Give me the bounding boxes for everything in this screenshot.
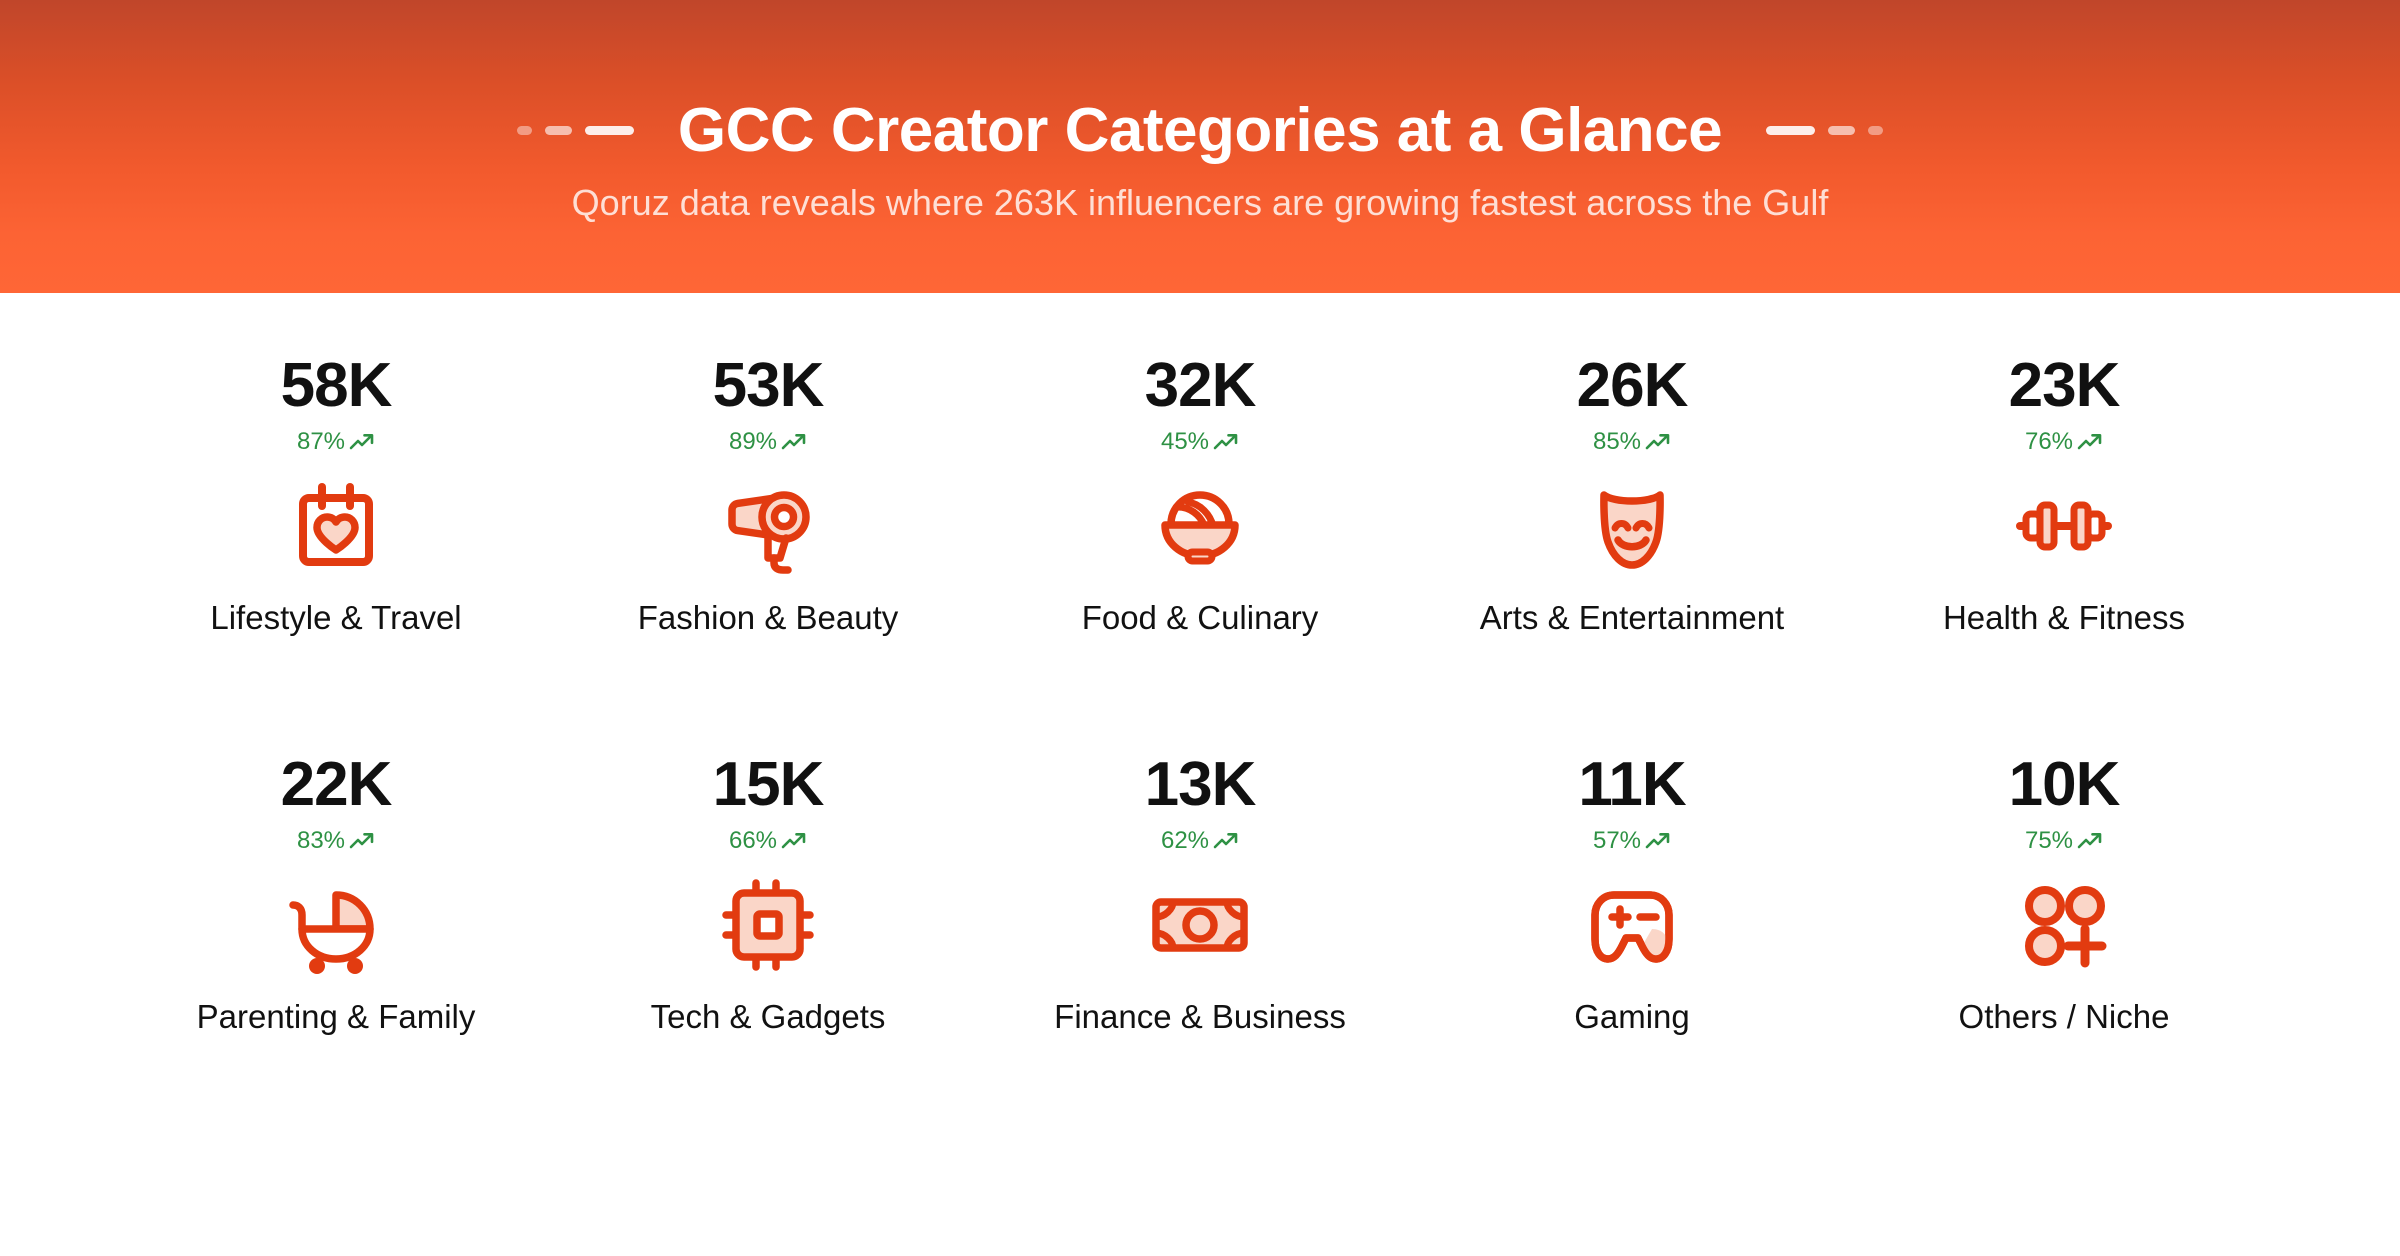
- hairdryer-icon: [716, 474, 820, 578]
- right-dash-decoration-icon: [1766, 126, 1883, 135]
- cpu-chip-icon: [716, 873, 820, 977]
- page-title: GCC Creator Categories at a Glance: [634, 95, 1766, 166]
- growth-badge: 85%: [1593, 430, 1671, 454]
- category-label: Tech & Gadgets: [651, 999, 886, 1035]
- left-dash-decoration-icon: [517, 126, 634, 135]
- growth-value: 57%: [1593, 829, 1641, 853]
- growth-badge: 89%: [729, 430, 807, 454]
- rice-bowl-icon: [1148, 474, 1252, 578]
- category-label: Lifestyle & Travel: [210, 600, 461, 636]
- title-row: GCC Creator Categories at a Glance: [517, 95, 1883, 166]
- stat-value: 15K: [713, 754, 824, 816]
- category-row: 58K 87% Lifestyle & Trav: [120, 355, 2280, 636]
- growth-badge: 62%: [1161, 829, 1239, 853]
- category-card-arts-entertainment[interactable]: 26K 85% Arts & Entertain: [1416, 355, 1848, 636]
- trend-up-icon: [1213, 831, 1239, 851]
- category-card-food-culinary[interactable]: 32K 45% Foo: [984, 355, 1416, 636]
- theater-mask-icon: [1580, 474, 1684, 578]
- growth-value: 76%: [2025, 430, 2073, 454]
- infographic-page: GCC Creator Categories at a Glance Qoruz…: [0, 0, 2400, 1256]
- calendar-heart-icon: [284, 474, 388, 578]
- stat-value: 10K: [2009, 754, 2120, 816]
- trend-up-icon: [349, 432, 375, 452]
- growth-badge: 57%: [1593, 829, 1671, 853]
- category-card-others-niche[interactable]: 10K 75% Oth: [1848, 754, 2280, 1035]
- growth-badge: 66%: [729, 829, 807, 853]
- header-banner: GCC Creator Categories at a Glance Qoruz…: [0, 0, 2400, 293]
- stat-value: 53K: [713, 355, 824, 417]
- stat-value: 11K: [1578, 754, 1685, 816]
- category-label: Finance & Business: [1054, 999, 1346, 1035]
- category-card-finance-business[interactable]: 13K 62%: [984, 754, 1416, 1035]
- gamepad-icon: [1580, 873, 1684, 977]
- banknote-icon: [1148, 873, 1252, 977]
- category-row: 22K 83% Par: [120, 754, 2280, 1035]
- trend-up-icon: [781, 831, 807, 851]
- category-card-fashion-beauty[interactable]: 53K 89% Fas: [552, 355, 984, 636]
- category-grid: 58K 87% Lifestyle & Trav: [0, 293, 2400, 1036]
- trend-up-icon: [1645, 432, 1671, 452]
- growth-value: 87%: [297, 430, 345, 454]
- category-label: Food & Culinary: [1082, 600, 1319, 636]
- stat-value: 32K: [1145, 355, 1256, 417]
- category-label: Parenting & Family: [197, 999, 476, 1035]
- stroller-icon: [284, 873, 388, 977]
- dots-plus-icon: [2012, 873, 2116, 977]
- stat-value: 58K: [281, 355, 392, 417]
- stat-value: 13K: [1145, 754, 1256, 816]
- trend-up-icon: [781, 432, 807, 452]
- growth-badge: 83%: [297, 829, 375, 853]
- trend-up-icon: [349, 831, 375, 851]
- category-label: Others / Niche: [1959, 999, 2170, 1035]
- growth-value: 83%: [297, 829, 345, 853]
- stat-value: 22K: [281, 754, 392, 816]
- growth-value: 66%: [729, 829, 777, 853]
- category-label: Health & Fitness: [1943, 600, 2185, 636]
- growth-badge: 76%: [2025, 430, 2103, 454]
- growth-value: 45%: [1161, 430, 1209, 454]
- category-card-tech-gadgets[interactable]: 15K 66%: [552, 754, 984, 1035]
- growth-value: 85%: [1593, 430, 1641, 454]
- trend-up-icon: [1213, 432, 1239, 452]
- trend-up-icon: [2077, 432, 2103, 452]
- category-card-lifestyle-travel[interactable]: 58K 87% Lifestyle & Trav: [120, 355, 552, 636]
- growth-value: 75%: [2025, 829, 2073, 853]
- page-subtitle: Qoruz data reveals where 263K influencer…: [572, 182, 1829, 224]
- trend-up-icon: [2077, 831, 2103, 851]
- category-label: Arts & Entertainment: [1480, 600, 1784, 636]
- growth-badge: 75%: [2025, 829, 2103, 853]
- dumbbell-icon: [2012, 474, 2116, 578]
- category-card-parenting-family[interactable]: 22K 83% Par: [120, 754, 552, 1035]
- category-label: Gaming: [1574, 999, 1690, 1035]
- category-card-health-fitness[interactable]: 23K 76%: [1848, 355, 2280, 636]
- growth-badge: 87%: [297, 430, 375, 454]
- stat-value: 23K: [2009, 355, 2120, 417]
- growth-value: 89%: [729, 430, 777, 454]
- category-label: Fashion & Beauty: [638, 600, 899, 636]
- stat-value: 26K: [1577, 355, 1688, 417]
- growth-badge: 45%: [1161, 430, 1239, 454]
- category-card-gaming[interactable]: 11K 57%: [1416, 754, 1848, 1035]
- trend-up-icon: [1645, 831, 1671, 851]
- growth-value: 62%: [1161, 829, 1209, 853]
